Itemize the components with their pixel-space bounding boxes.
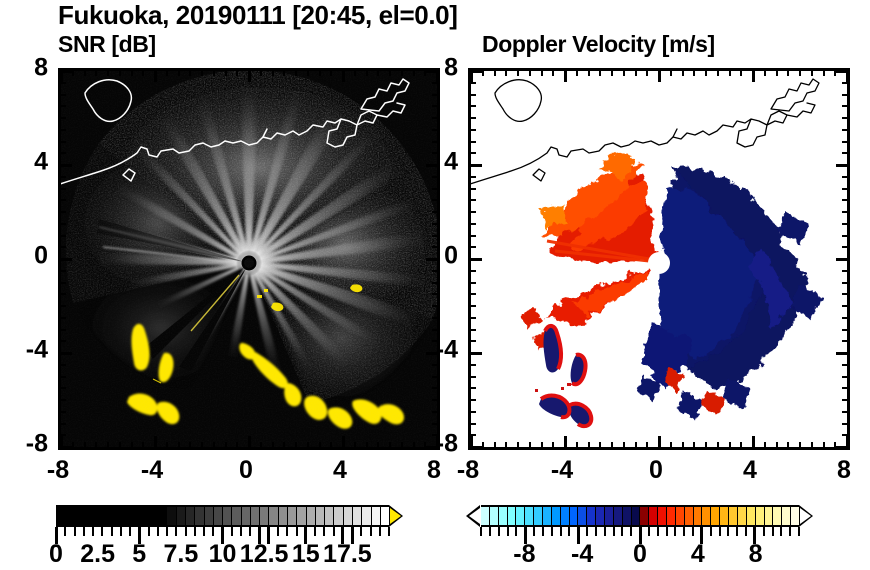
colorbar-cell [259,507,268,525]
colorbar-cell [515,507,524,525]
colorbar-cell [737,507,746,525]
colorbar-cell [577,507,586,525]
colorbar-cell [324,507,333,525]
colorbar-tick [360,527,362,536]
colorbar-cell [481,507,489,525]
colorbar-cell [64,507,73,525]
colorbar-tick [630,527,632,536]
x-axis-label-dop-2: 0 [649,456,663,485]
colorbar-cell [710,507,719,525]
colorbar-tick [323,527,325,536]
colorbar-tick [314,527,316,536]
colorbar-tick [83,527,85,536]
colorbar-cell [569,507,578,525]
colorbar-cell [92,507,101,525]
colorbar-tick [736,527,738,536]
colorbar-label-snr-2: 5 [132,540,146,569]
colorbar-cell [764,507,773,525]
colorbar-tick [231,527,233,536]
colorbar-cell [268,507,277,525]
colorbar-cell [129,507,138,525]
colorbar-cell [675,507,684,525]
colorbar-cell [380,507,389,525]
colorbar-cell [361,507,370,525]
colorbar-cell [524,507,533,525]
y-axis-label-snr-2: 0 [2,242,48,271]
colorbar-cell [231,507,240,525]
y-axis-label-snr-4: -8 [2,430,48,459]
y-axis-label-dop-2: 0 [412,242,458,271]
colorbar-cell [83,507,92,525]
colorbar-tick [249,527,251,536]
doppler-radar-image [471,71,847,447]
colorbar-tick [175,527,177,536]
colorbar-tick [277,527,279,536]
x-axis-label-dop-1: -4 [551,456,573,485]
snr-colorbar[interactable] [56,505,404,527]
colorbar-cell [287,507,296,525]
colorbar-label-dop-0: -8 [513,540,535,569]
x-axis-label-dop-4: 8 [837,456,851,485]
colorbar-tick [515,527,517,536]
colorbar-tick [727,527,729,536]
colorbar-label-snr-7: 17.5 [323,540,372,569]
doppler-colorbar[interactable] [466,505,814,527]
colorbar-cell [204,507,213,525]
colorbar-cell [693,507,702,525]
colorbar-label-snr-6: 15 [292,540,320,569]
colorbar-cell [241,507,250,525]
colorbar-cell [781,507,790,525]
colorbar-tick [166,527,168,536]
colorbar-tick [621,527,623,536]
y-axis-label-snr-0: 8 [2,54,48,83]
colorbar-tick [780,527,782,536]
y-axis-label-dop-3: -4 [412,336,458,365]
y-axis-label-dop-4: -8 [412,430,458,459]
snr-plot-surface [61,71,437,447]
colorbar-tick [551,527,553,536]
doppler-plot-axes[interactable] [468,68,850,450]
y-axis-label-dop-0: 8 [412,54,458,83]
colorbar-tick [74,527,76,536]
colorbar-cell [622,507,631,525]
colorbar-cell [222,507,231,525]
colorbar-cell [772,507,781,525]
colorbar-cell [728,507,737,525]
x-axis-label-snr-3: 4 [333,456,347,485]
colorbar-tick [64,527,66,536]
colorbar-cell [613,507,622,525]
colorbar-cell [631,507,640,525]
colorbar-label-dop-1: -4 [571,540,593,569]
colorbar-label-dop-4: 8 [749,540,763,569]
doppler-colorbar-gradient[interactable] [481,505,799,527]
colorbar-arrow-right-fill [390,508,401,524]
colorbar-cell [498,507,507,525]
doppler-plot-surface [471,71,847,447]
colorbar-cell [684,507,693,525]
colorbar-label-snr-1: 2.5 [80,540,115,569]
colorbar-tick [745,527,747,536]
colorbar-cell [111,507,120,525]
x-axis-label-dop-3: 4 [743,456,757,485]
colorbar-label-snr-5: 12.5 [240,540,289,569]
colorbar-arrow-right-fill [800,508,811,524]
colorbar-cell [489,507,498,525]
colorbar-tick [333,527,335,536]
colorbar-cell [657,507,666,525]
colorbar-tick [507,527,509,536]
figure-title: Fukuoka, 20190111 [20:45, el=0.0] [58,0,658,30]
doppler-panel-title: Doppler Velocity [m/s] [482,30,715,58]
colorbar-cell [185,507,194,525]
colorbar-tick [498,527,500,536]
colorbar-cell [560,507,569,525]
colorbar-arrow-left-fill [469,508,480,524]
colorbar-tick [710,527,712,536]
colorbar-tick [489,527,491,536]
colorbar-label-dop-2: 0 [633,540,647,569]
colorbar-cell [533,507,542,525]
colorbar-cell [595,507,604,525]
colorbar-cell [213,507,222,525]
colorbar-label-dop-3: 4 [691,540,705,569]
colorbar-cell [719,507,728,525]
colorbar-cell [639,507,648,525]
colorbar-cell [74,507,83,525]
colorbar-tick [92,527,94,536]
colorbar-cell [507,507,516,525]
colorbar-cell [755,507,764,525]
colorbar-tick [240,527,242,536]
colorbar-tick [194,527,196,536]
colorbar-tick [370,527,372,536]
y-axis-label-snr-3: -4 [2,336,48,365]
y-axis-label-snr-1: 4 [2,148,48,177]
colorbar-tick [111,527,113,536]
colorbar-cell [371,507,380,525]
colorbar-tick [157,527,159,536]
figure-root: Fukuoka, 20190111 [20:45, el=0.0] SNR [d… [0,0,870,570]
colorbar-cell [551,507,560,525]
x-axis-label-dop-0: -8 [457,456,479,485]
x-axis-label-snr-1: -4 [141,456,163,485]
colorbar-tick [692,527,694,536]
colorbar-label-snr-0: 0 [49,540,63,569]
colorbar-tick [296,527,298,536]
x-axis-label-snr-0: -8 [47,456,69,485]
colorbar-cell [746,507,755,525]
colorbar-label-snr-3: 7.5 [163,540,198,569]
colorbar-tick [148,527,150,536]
colorbar-cell [278,507,287,525]
colorbar-cell [542,507,551,525]
colorbar-tick [586,527,588,536]
colorbar-cell [166,507,175,525]
colorbar-tick [129,527,131,536]
colorbar-cell [296,507,305,525]
colorbar-cell [333,507,342,525]
snr-radar-image [61,71,437,447]
snr-colorbar-gradient[interactable] [56,505,389,527]
colorbar-tick [533,527,535,536]
y-axis-label-dop-1: 4 [412,148,458,177]
colorbar-cell [352,507,361,525]
colorbar-cell [666,507,675,525]
colorbar-tick [613,527,615,536]
colorbar-tick [388,527,390,536]
colorbar-cell [120,507,129,525]
colorbar-tick [595,527,597,536]
colorbar-tick [772,527,774,536]
colorbar-tick [185,527,187,536]
colorbar-cell [306,507,315,525]
colorbar-cell [250,507,259,525]
colorbar-tick [101,527,103,536]
colorbar-tick [379,527,381,536]
colorbar-tick [763,527,765,536]
snr-plot-axes[interactable] [58,68,440,450]
colorbar-tick [560,527,562,536]
colorbar-cell [176,507,185,525]
colorbar-cell [790,507,799,525]
colorbar-cell [56,507,64,525]
colorbar-tick [789,527,791,536]
colorbar-tick [120,527,122,536]
colorbar-cell [315,507,324,525]
colorbar-label-snr-4: 10 [209,540,237,569]
colorbar-tick [542,527,544,536]
colorbar-tick [666,527,668,536]
colorbar-cell [139,507,148,525]
colorbar-tick [203,527,205,536]
colorbar-cell [343,507,352,525]
colorbar-tick [604,527,606,536]
colorbar-cell [157,507,166,525]
colorbar-tick [480,527,482,536]
snr-panel-title: SNR [dB] [58,30,156,58]
colorbar-cell [194,507,203,525]
colorbar-cell [604,507,613,525]
colorbar-tick [798,527,800,536]
colorbar-cell [701,507,710,525]
colorbar-cell [586,507,595,525]
colorbar-tick [657,527,659,536]
colorbar-tick [683,527,685,536]
colorbar-tick [212,527,214,536]
colorbar-tick [286,527,288,536]
x-axis-label-snr-2: 0 [239,456,253,485]
colorbar-cell [148,507,157,525]
colorbar-cell [648,507,657,525]
colorbar-cell [101,507,110,525]
colorbar-tick [719,527,721,536]
x-axis-label-snr-4: 8 [427,456,441,485]
colorbar-tick [674,527,676,536]
colorbar-tick [648,527,650,536]
colorbar-tick [568,527,570,536]
